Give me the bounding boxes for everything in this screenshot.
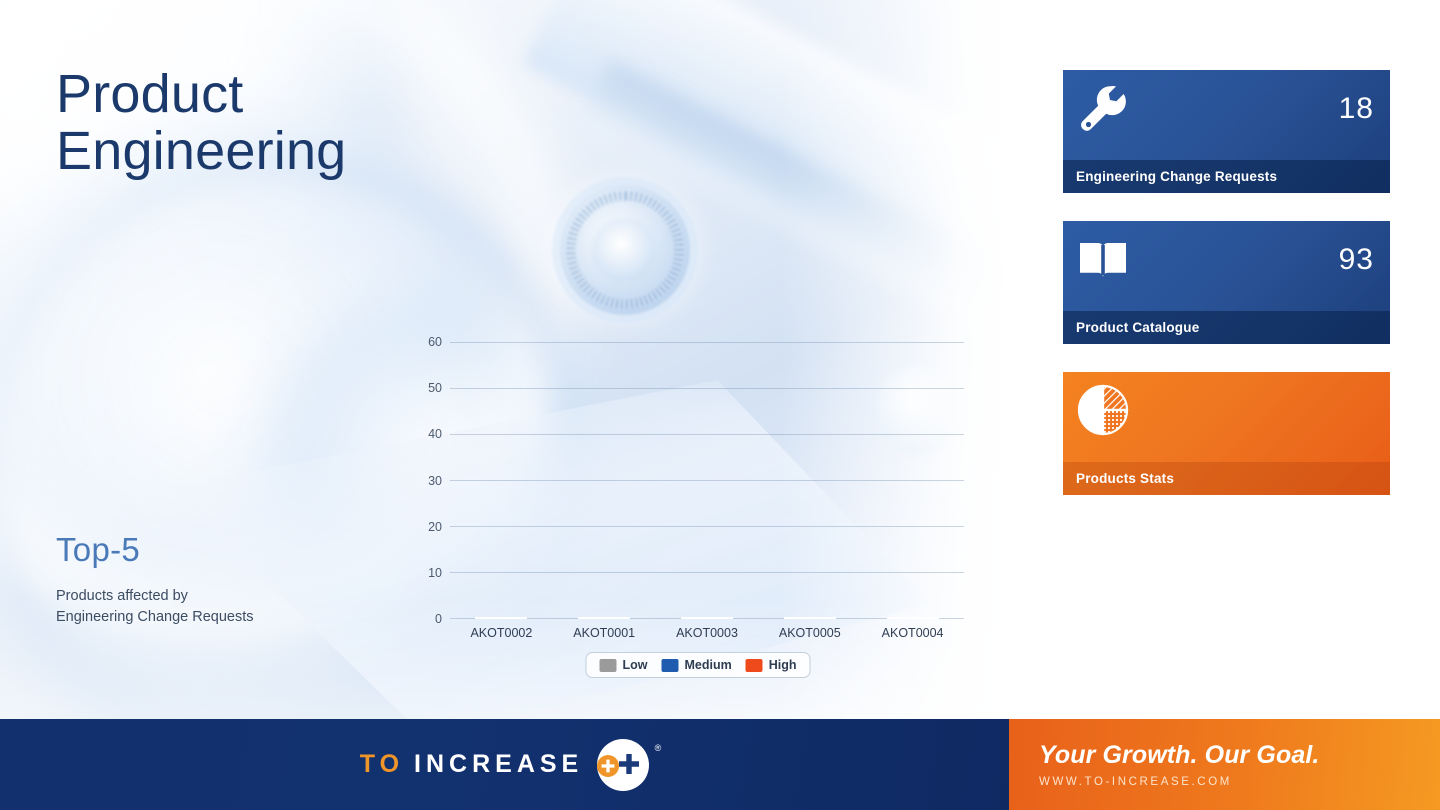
tile-value: 18: [1339, 92, 1374, 126]
chart-gridline: 0: [450, 618, 964, 619]
legend-swatch: [599, 659, 616, 672]
chart-y-tick-label: 60: [428, 335, 442, 349]
wrench-icon: [1075, 80, 1131, 136]
pie-chart-icon: [1075, 382, 1131, 438]
chart-bars: [450, 342, 964, 618]
chart-y-tick-label: 40: [428, 427, 442, 441]
chart-bar-slot: [861, 342, 964, 618]
footer-url: WWW.TO-INCREASE.COM: [1039, 776, 1440, 788]
logo-word-to: TO: [360, 750, 404, 779]
registered-mark: ®: [655, 743, 662, 753]
plus-blue-icon: [617, 753, 641, 777]
page-title: Product Engineering: [56, 66, 346, 179]
logo-plus-mark: ®: [597, 739, 649, 791]
footer-tagline: Your Growth. Our Goal.: [1039, 741, 1440, 770]
footer-tagline-panel: Your Growth. Our Goal. WWW.TO-INCREASE.C…: [1009, 719, 1440, 810]
tile-label: Products Stats: [1076, 471, 1174, 486]
chart-x-label: AKOT0002: [450, 626, 553, 640]
tile-label: Engineering Change Requests: [1076, 169, 1277, 184]
chart-bar-slot: [758, 342, 861, 618]
tile-value: 93: [1339, 243, 1374, 277]
legend-item-medium[interactable]: Medium: [661, 658, 731, 672]
footer-brand-panel: TO INCREASE ®: [0, 719, 1009, 810]
chart-y-tick-label: 0: [435, 612, 442, 626]
stacked-bar-chart: 0102030405060 AKOT0002AKOT0001AKOT0003AK…: [418, 330, 978, 690]
legend-label: Medium: [684, 658, 731, 672]
chart-x-label: AKOT0005: [758, 626, 861, 640]
chart-bar-slot: [450, 342, 553, 618]
chart-y-tick-label: 50: [428, 381, 442, 395]
slide-canvas: Product Engineering Top-5 Products affec…: [0, 0, 1440, 810]
logo-word-increase: INCREASE: [414, 750, 583, 779]
tile-label: Product Catalogue: [1076, 320, 1199, 335]
chart-plot-area: 0102030405060: [450, 342, 964, 618]
to-increase-logo: TO INCREASE ®: [360, 739, 649, 791]
chart-x-label: AKOT0004: [861, 626, 964, 640]
chart-bar-slot: [656, 342, 759, 618]
tile-footer: Engineering Change Requests: [1063, 160, 1390, 193]
chart-x-axis-labels: AKOT0002AKOT0001AKOT0003AKOT0005AKOT0004: [450, 626, 964, 640]
plus-orange-icon: [597, 755, 619, 777]
chart-y-tick-label: 10: [428, 566, 442, 580]
tile-product-catalogue[interactable]: 93Product Catalogue: [1063, 221, 1390, 344]
legend-swatch: [661, 659, 678, 672]
chart-x-label: AKOT0001: [553, 626, 656, 640]
slide-footer: TO INCREASE ® Your Growth. Our Goal. WWW…: [0, 719, 1440, 810]
section-subtext: Products affected by Engineering Change …: [56, 586, 254, 629]
legend-item-high[interactable]: High: [746, 658, 797, 672]
chart-bar-slot: [553, 342, 656, 618]
tile-engineering-change-requests[interactable]: 18Engineering Change Requests: [1063, 70, 1390, 193]
tile-column: 18Engineering Change Requests93Product C…: [1063, 70, 1390, 523]
chart-x-label: AKOT0003: [656, 626, 759, 640]
legend-label: High: [769, 658, 797, 672]
chart-legend: LowMediumHigh: [585, 652, 810, 678]
legend-swatch: [746, 659, 763, 672]
chart-y-tick-label: 20: [428, 520, 442, 534]
legend-label: Low: [622, 658, 647, 672]
chart-y-tick-label: 30: [428, 474, 442, 488]
legend-item-low[interactable]: Low: [599, 658, 647, 672]
tile-footer: Product Catalogue: [1063, 311, 1390, 344]
section-heading: Top-5: [56, 531, 140, 569]
book-icon: [1075, 231, 1131, 287]
tile-footer: Products Stats: [1063, 462, 1390, 495]
tile-products-stats[interactable]: Products Stats: [1063, 372, 1390, 495]
